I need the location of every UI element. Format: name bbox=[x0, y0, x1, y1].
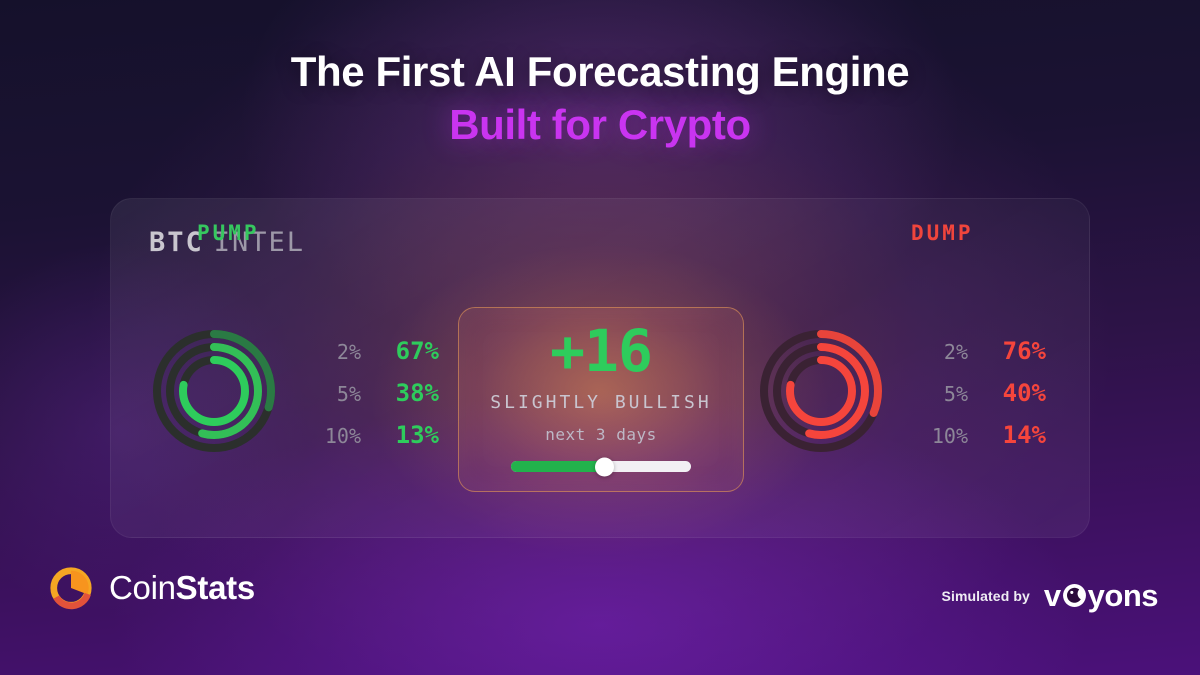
headline-line-1: The First AI Forecasting Engine bbox=[0, 48, 1200, 95]
dump-gauge bbox=[756, 326, 886, 456]
stat-row: 10% 13% bbox=[297, 421, 439, 449]
pump-threshold-2: 5% bbox=[297, 382, 361, 406]
headline-line-2: Built for Crypto bbox=[0, 101, 1200, 148]
pump-panel: PUMP bbox=[149, 291, 439, 491]
pump-stats: 2% 67% 5% 38% 10% 13% bbox=[297, 333, 439, 449]
dump-stats: 2% 76% 5% 40% 10% 14% bbox=[904, 333, 1046, 449]
coinstats-word-coin: Coin bbox=[109, 569, 176, 606]
partner-credit: Simulated by v yons bbox=[942, 580, 1158, 611]
forecast-panel: +16 SLIGHTLY BULLISH next 3 days bbox=[458, 307, 744, 492]
voyons-letter-v: v bbox=[1044, 580, 1061, 611]
pump-value-1: 67% bbox=[361, 337, 439, 365]
stat-row: 10% 14% bbox=[904, 421, 1046, 449]
pump-gauge-rings bbox=[149, 326, 279, 456]
sentiment-slider[interactable] bbox=[511, 461, 691, 472]
headline: The First AI Forecasting Engine Built fo… bbox=[0, 48, 1200, 148]
card-symbol: BTC bbox=[149, 227, 204, 258]
dump-value-1: 76% bbox=[968, 337, 1046, 365]
btc-intel-card: BTCINTEL PUMP bbox=[110, 198, 1090, 538]
forecast-score: +16 bbox=[550, 322, 652, 380]
forecast-verdict: SLIGHTLY BULLISH bbox=[490, 392, 711, 413]
stat-row: 2% 67% bbox=[297, 337, 439, 365]
stat-row: 2% 76% bbox=[904, 337, 1046, 365]
dump-threshold-3: 10% bbox=[904, 424, 968, 448]
pump-value-3: 13% bbox=[361, 421, 439, 449]
forecast-horizon: next 3 days bbox=[545, 425, 656, 444]
dump-value-2: 40% bbox=[968, 379, 1046, 407]
pump-gauge bbox=[149, 326, 279, 456]
dump-threshold-2: 5% bbox=[904, 382, 968, 406]
slider-knob[interactable] bbox=[595, 457, 614, 476]
dump-gauge-rings bbox=[756, 326, 886, 456]
coinstats-word-stats: Stats bbox=[176, 569, 255, 606]
dump-panel: DUMP bbox=[756, 291, 1046, 491]
pump-threshold-3: 10% bbox=[297, 424, 361, 448]
slider-fill bbox=[511, 461, 605, 472]
pump-value-2: 38% bbox=[361, 379, 439, 407]
voyons-eye-icon bbox=[1062, 583, 1087, 608]
dump-value-3: 14% bbox=[968, 421, 1046, 449]
stat-row: 5% 40% bbox=[904, 379, 1046, 407]
pump-threshold-1: 2% bbox=[297, 340, 361, 364]
voyons-wordmark: v yons bbox=[1044, 580, 1158, 611]
poster-canvas: The First AI Forecasting Engine Built fo… bbox=[0, 0, 1200, 675]
dump-threshold-1: 2% bbox=[904, 340, 968, 364]
pump-label: PUMP bbox=[197, 221, 260, 245]
coinstats-donut-icon bbox=[48, 565, 94, 611]
stat-row: 5% 38% bbox=[297, 379, 439, 407]
coinstats-logo: CoinStats bbox=[48, 565, 255, 611]
coinstats-wordmark: CoinStats bbox=[109, 569, 255, 607]
simulated-by-label: Simulated by bbox=[942, 588, 1030, 604]
dump-label: DUMP bbox=[911, 221, 974, 245]
voyons-letters-yons: yons bbox=[1088, 580, 1158, 611]
